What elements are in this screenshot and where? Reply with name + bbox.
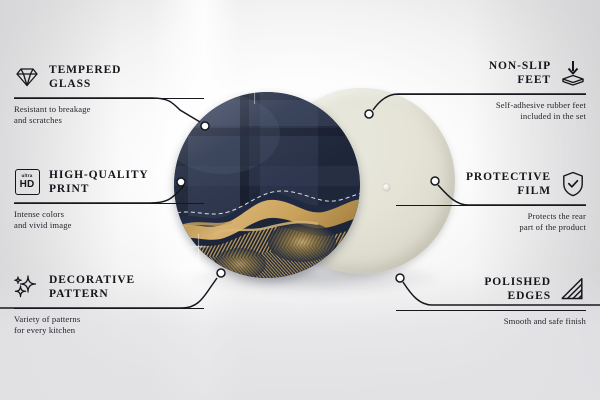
- feature-high-quality-print: ultra HD HIGH-QUALITY PRINT Intense colo…: [14, 165, 204, 232]
- feature-polished-edges: POLISHED EDGES Smooth and safe finish: [396, 272, 586, 327]
- feature-description: Intense colors and vivid image: [14, 209, 204, 232]
- feature-divider: [396, 205, 586, 206]
- feature-divider: [14, 98, 204, 99]
- infographic-scene: TEMPERED GLASS Resistant to breakage and…: [0, 0, 600, 400]
- sparkles-icon: [14, 274, 40, 300]
- feature-description: Resistant to breakage and scratches: [14, 104, 204, 127]
- feature-decorative-pattern: DECORATIVE PATTERN Variety of patterns f…: [14, 270, 204, 337]
- ultra-hd-icon-large-text: HD: [20, 180, 35, 190]
- feature-non-slip-feet: NON-SLIP FEET Self-adhesive rubber feet …: [396, 56, 586, 123]
- feature-description: Protects the rear part of the product: [396, 211, 586, 234]
- feature-header: TEMPERED GLASS: [14, 60, 204, 94]
- feature-divider: [396, 310, 586, 311]
- shield-check-icon: [560, 171, 586, 197]
- diagonal-lines-icon: [560, 276, 586, 302]
- feature-title: DECORATIVE PATTERN: [49, 273, 135, 301]
- feature-title: TEMPERED GLASS: [49, 63, 121, 91]
- feature-title: HIGH-QUALITY PRINT: [49, 168, 149, 196]
- feature-divider: [14, 308, 204, 309]
- feature-title: POLISHED EDGES: [484, 275, 551, 303]
- feature-divider: [396, 94, 586, 95]
- feature-description: Self-adhesive rubber feet included in th…: [396, 100, 586, 123]
- feature-header: DECORATIVE PATTERN: [14, 270, 204, 304]
- feature-title: PROTECTIVE FILM: [466, 170, 551, 198]
- ultra-hd-icon: ultra HD: [14, 169, 40, 195]
- feature-tempered-glass: TEMPERED GLASS Resistant to breakage and…: [14, 60, 204, 127]
- feature-title: NON-SLIP FEET: [489, 59, 551, 87]
- arrow-down-pad-icon: [560, 60, 586, 86]
- feature-description: Smooth and safe finish: [396, 316, 586, 327]
- feature-divider: [14, 203, 204, 204]
- feature-header: PROTECTIVE FILM: [396, 167, 586, 201]
- feature-protective-film: PROTECTIVE FILM Protects the rear part o…: [396, 167, 586, 234]
- diamond-icon: [14, 64, 40, 90]
- feature-description: Variety of patterns for every kitchen: [14, 314, 204, 337]
- feature-header: ultra HD HIGH-QUALITY PRINT: [14, 165, 204, 199]
- rubber-foot: [383, 184, 390, 191]
- feature-header: NON-SLIP FEET: [396, 56, 586, 90]
- feature-header: POLISHED EDGES: [396, 272, 586, 306]
